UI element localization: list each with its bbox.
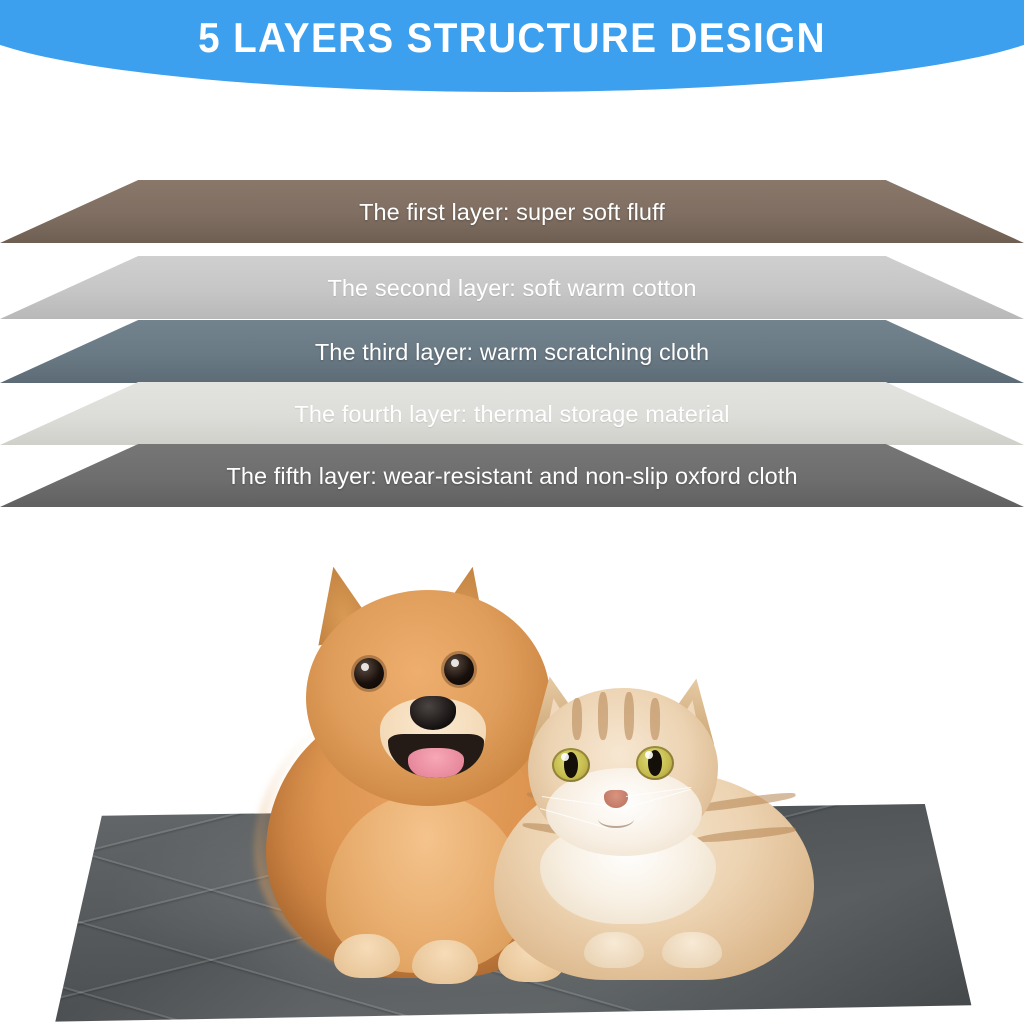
ginger-tabby-cat	[486, 680, 816, 980]
page-title: 5 LAYERS STRUCTURE DESIGN	[41, 14, 983, 62]
layer-label-1: The first layer: super soft fluff	[0, 180, 1024, 243]
dog-tongue	[408, 748, 464, 778]
layer-label-3: The third layer: warm scratching cloth	[0, 320, 1024, 383]
cat-eye	[552, 748, 590, 782]
cat-eye	[636, 746, 674, 780]
layer-label-5: The fifth layer: wear-resistant and non-…	[0, 444, 1024, 507]
layer-row-1: The first layer: super soft fluff	[0, 180, 1024, 246]
cat-paw	[584, 932, 644, 968]
dog-paw	[334, 934, 400, 978]
dog-eye	[354, 658, 384, 689]
layer-stack: The first layer: super soft fluff The se…	[0, 180, 1024, 510]
dog-eye	[444, 654, 474, 685]
layer-row-3: The third layer: warm scratching cloth	[0, 320, 1024, 386]
layer-row-4: The fourth layer: thermal storage materi…	[0, 382, 1024, 448]
layer-label-2: The second layer: soft warm cotton	[0, 256, 1024, 319]
layer-row-2: The second layer: soft warm cotton	[0, 256, 1024, 322]
dog-paw	[412, 940, 478, 984]
cat-paw	[662, 932, 722, 968]
header-banner: 5 LAYERS STRUCTURE DESIGN	[0, 0, 1024, 92]
layer-row-5: The fifth layer: wear-resistant and non-…	[0, 444, 1024, 510]
layer-label-4: The fourth layer: thermal storage materi…	[0, 382, 1024, 445]
product-photo	[0, 520, 1024, 1024]
